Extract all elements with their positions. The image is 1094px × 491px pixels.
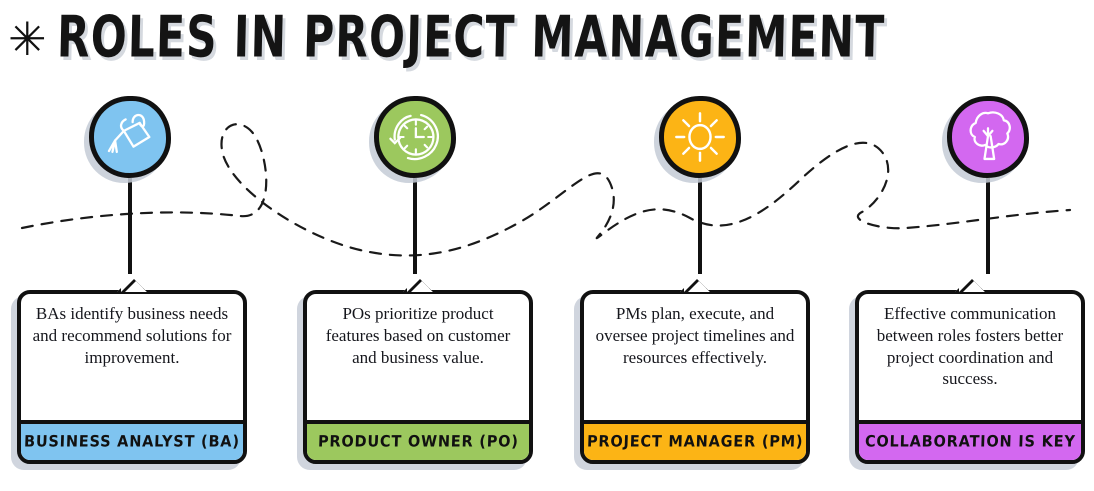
card-label-text-2: Product Owner (PO) [317,433,518,450]
pin-project-manager [652,96,748,274]
pin-business-analyst [82,96,178,274]
pin-stem-3 [698,178,702,274]
card-body-3: PMs plan, execute, and oversee project t… [580,290,810,464]
pin-circle-1 [89,96,171,178]
pin-stem-2 [413,178,417,274]
card-description-2: POs prioritize product features based on… [307,294,529,420]
card-label-text-3: Project Manager (PM) [587,433,804,450]
asterisk-star-icon: ✳ [8,16,47,62]
page-title-text: Roles in Project Management [56,3,886,70]
card-label-1[interactable]: Business Analyst (BA) [21,420,243,460]
role-card-collaboration: Effective communication between roles fo… [855,278,1085,464]
card-description-3: PMs plan, execute, and oversee project t… [584,294,806,420]
sun-icon [664,101,736,173]
card-label-text-1: Business Analyst (BA) [24,433,240,450]
card-notch-4 [955,277,985,292]
card-notch-3 [680,277,710,292]
card-description-4: Effective communication between roles fo… [859,294,1081,420]
card-label-text-4: Collaboration is Key [864,433,1075,450]
role-card-project-manager: PMs plan, execute, and oversee project t… [580,278,810,464]
card-notch-1 [117,277,147,292]
card-label-2[interactable]: Product Owner (PO) [307,420,529,460]
page-title: ✳ Roles in Project Management [8,4,885,70]
pin-collaboration [940,96,1036,274]
role-card-product-owner: POs prioritize product features based on… [303,278,533,464]
watering-can-icon [94,101,166,173]
card-description-1: BAs identify business needs and recommen… [21,294,243,420]
card-notch-2 [403,277,433,292]
pin-product-owner [367,96,463,274]
pin-stem-4 [986,178,990,274]
card-body-2: POs prioritize product features based on… [303,290,533,464]
card-body-1: BAs identify business needs and recommen… [17,290,247,464]
tree-icon [952,101,1024,173]
card-body-4: Effective communication between roles fo… [855,290,1085,464]
pin-circle-2 [374,96,456,178]
pin-stem-1 [128,178,132,274]
clock-refresh-icon [379,101,451,173]
card-label-3[interactable]: Project Manager (PM) [584,420,806,460]
infographic-canvas: ✳ Roles in Project Management [0,0,1094,491]
role-card-business-analyst: BAs identify business needs and recommen… [17,278,247,464]
card-label-4[interactable]: Collaboration is Key [859,420,1081,460]
pin-circle-4 [947,96,1029,178]
pin-circle-3 [659,96,741,178]
